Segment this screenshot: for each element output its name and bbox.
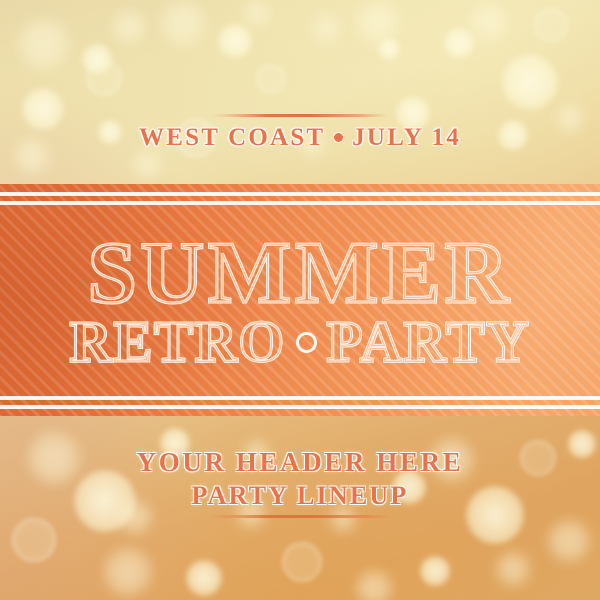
ring-dot-icon xyxy=(296,332,317,353)
headline-party-text: PARTY xyxy=(327,309,530,374)
kicker-line: WEST COASTJULY 14 xyxy=(0,124,600,152)
headline-subtitle-outline: RETROPARTY RETROPARTY xyxy=(0,308,600,375)
kicker-left-text: WEST COAST xyxy=(139,124,325,151)
headline-retro-text: RETRO xyxy=(70,309,286,374)
bullet-dot-icon xyxy=(334,133,343,142)
kicker-right-text: JULY 14 xyxy=(352,124,461,151)
bottom-divider-rule xyxy=(208,515,392,518)
banner-headline-group: SUMMER SUMMER RETROPARTY RETROPARTY xyxy=(0,184,600,416)
footer-header-line-1: YOUR HEADER HERE xyxy=(0,447,600,478)
poster-canvas: WEST COASTJULY 14 SUMMER SUMMER RETROPAR… xyxy=(0,0,600,600)
footer-header-line-2: PARTY LINEUP xyxy=(0,481,600,511)
striped-banner: SUMMER SUMMER RETROPARTY RETROPARTY xyxy=(0,184,600,416)
top-divider-rule xyxy=(212,114,388,117)
